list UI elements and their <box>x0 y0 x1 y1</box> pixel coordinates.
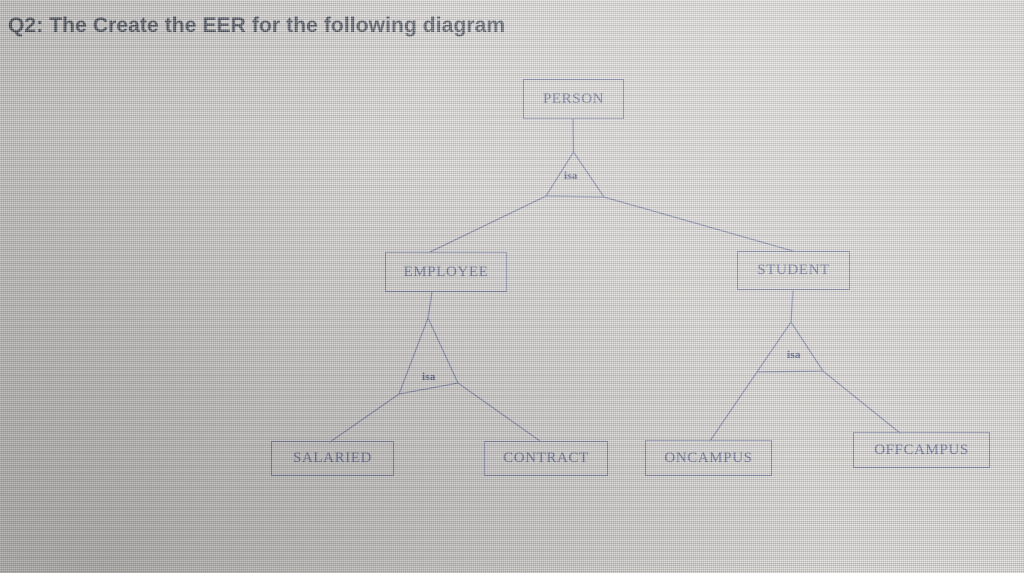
connector-isa-employee-to-contract <box>458 383 540 441</box>
isa-label-person: isa <box>564 170 578 182</box>
entity-contract: CONTRACT <box>484 441 608 476</box>
isa-label-student: isa <box>787 349 801 361</box>
connector-isa-student-to-oncampus <box>710 372 757 441</box>
connector-isa-person-to-employee <box>430 196 546 252</box>
eer-diagram <box>0 0 1024 573</box>
entity-label-person: PERSON <box>543 91 604 108</box>
isa-triangle-student <box>757 322 823 372</box>
entity-label-student: STUDENT <box>757 262 830 279</box>
entity-label-salaried: SALARIED <box>293 450 372 467</box>
connector-isa-person-to-student <box>604 197 793 251</box>
connector-isa-student-to-offcampus <box>823 371 900 433</box>
entity-label-employee: EMPLOYEE <box>404 264 489 281</box>
question-text: The Create the EER for the following dia… <box>43 14 505 37</box>
entity-oncampus: ONCAMPUS <box>645 440 772 476</box>
entity-label-contract: CONTRACT <box>503 450 589 467</box>
entity-label-oncampus: ONCAMPUS <box>664 450 752 467</box>
connector-employee-stem <box>428 292 432 318</box>
connector-isa-employee-to-salaried <box>330 394 399 442</box>
entity-label-offcampus: OFFCAMPUS <box>874 442 969 459</box>
entity-salaried: SALARIED <box>271 441 394 476</box>
connector-person-stem <box>573 119 574 152</box>
question-number: Q2: <box>8 14 43 37</box>
screenshot-canvas: Q2: The Create the EER for the following… <box>0 0 1024 573</box>
entity-student: STUDENT <box>737 251 850 290</box>
connector-student-stem <box>791 291 793 322</box>
isa-label-employee: isa <box>422 371 436 383</box>
entity-offcampus: OFFCAMPUS <box>853 432 990 468</box>
entity-person: PERSON <box>523 79 624 119</box>
page-title: Q2: The Create the EER for the following… <box>8 14 505 38</box>
entity-employee: EMPLOYEE <box>385 252 507 292</box>
